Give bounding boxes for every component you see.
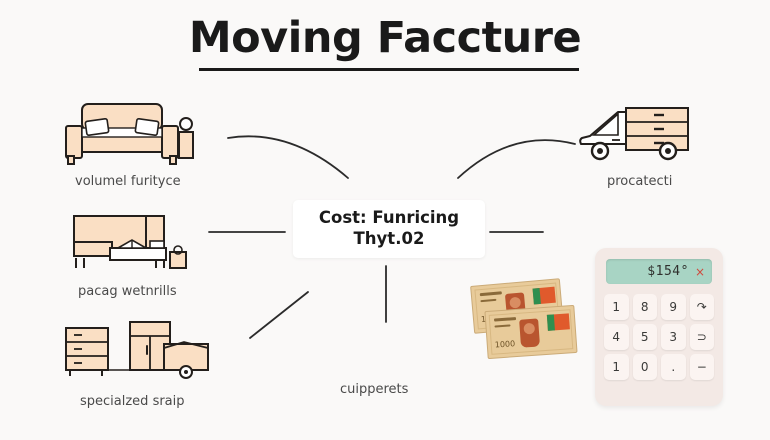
banknote-denomination: 1000 (495, 339, 516, 349)
calc-key[interactable]: ⊃ (690, 324, 715, 350)
branch-label-packing: pacag wetnrills (78, 284, 177, 299)
calculator-screen: $154° × (606, 259, 712, 284)
calc-key[interactable]: 4 (604, 324, 629, 350)
sofa-icon (60, 98, 200, 168)
bed-icon (64, 212, 204, 274)
banknotes-illustration: 1000 1000 (472, 282, 584, 364)
branch-label-furniture: volumel furityce (75, 174, 181, 189)
calc-key[interactable]: . (661, 354, 686, 380)
calc-key[interactable]: 9 (661, 294, 686, 320)
calculator-display-value: $154° (647, 264, 689, 279)
connector-specialized (250, 292, 308, 338)
center-cost-node[interactable]: Cost: Funricing Thyt.02 (293, 200, 485, 258)
calc-key[interactable]: 8 (633, 294, 658, 320)
connector-protection-arc (458, 140, 575, 178)
infographic-canvas: Moving Faccture Cost: Funricing Thyt.02 … (0, 0, 770, 440)
calc-key[interactable]: 1 (604, 354, 629, 380)
calc-key[interactable]: 0 (633, 354, 658, 380)
clear-icon[interactable]: × (695, 265, 705, 279)
connector-furniture (228, 136, 348, 178)
branch-label-equipment: cuipperets (340, 382, 408, 397)
truck-icon (578, 104, 694, 166)
banknote: 1000 (484, 305, 577, 359)
calculator[interactable]: $154° × 1 8 9 ↷ 4 5 3 ⊃ 1 0 . − (595, 248, 723, 406)
center-cost-text: Cost: Funricing Thyt.02 (319, 208, 459, 249)
calculator-keypad: 1 8 9 ↷ 4 5 3 ⊃ 1 0 . − (604, 294, 714, 380)
calc-key[interactable]: − (690, 354, 715, 380)
calc-key[interactable]: ↷ (690, 294, 715, 320)
calc-key[interactable]: 3 (661, 324, 686, 350)
calc-key[interactable]: 5 (633, 324, 658, 350)
branch-label-specialized: specialzed sraip (80, 394, 185, 409)
dresser-icon (58, 318, 218, 380)
calc-key[interactable]: 1 (604, 294, 629, 320)
branch-label-protection: procatecti (607, 174, 672, 189)
